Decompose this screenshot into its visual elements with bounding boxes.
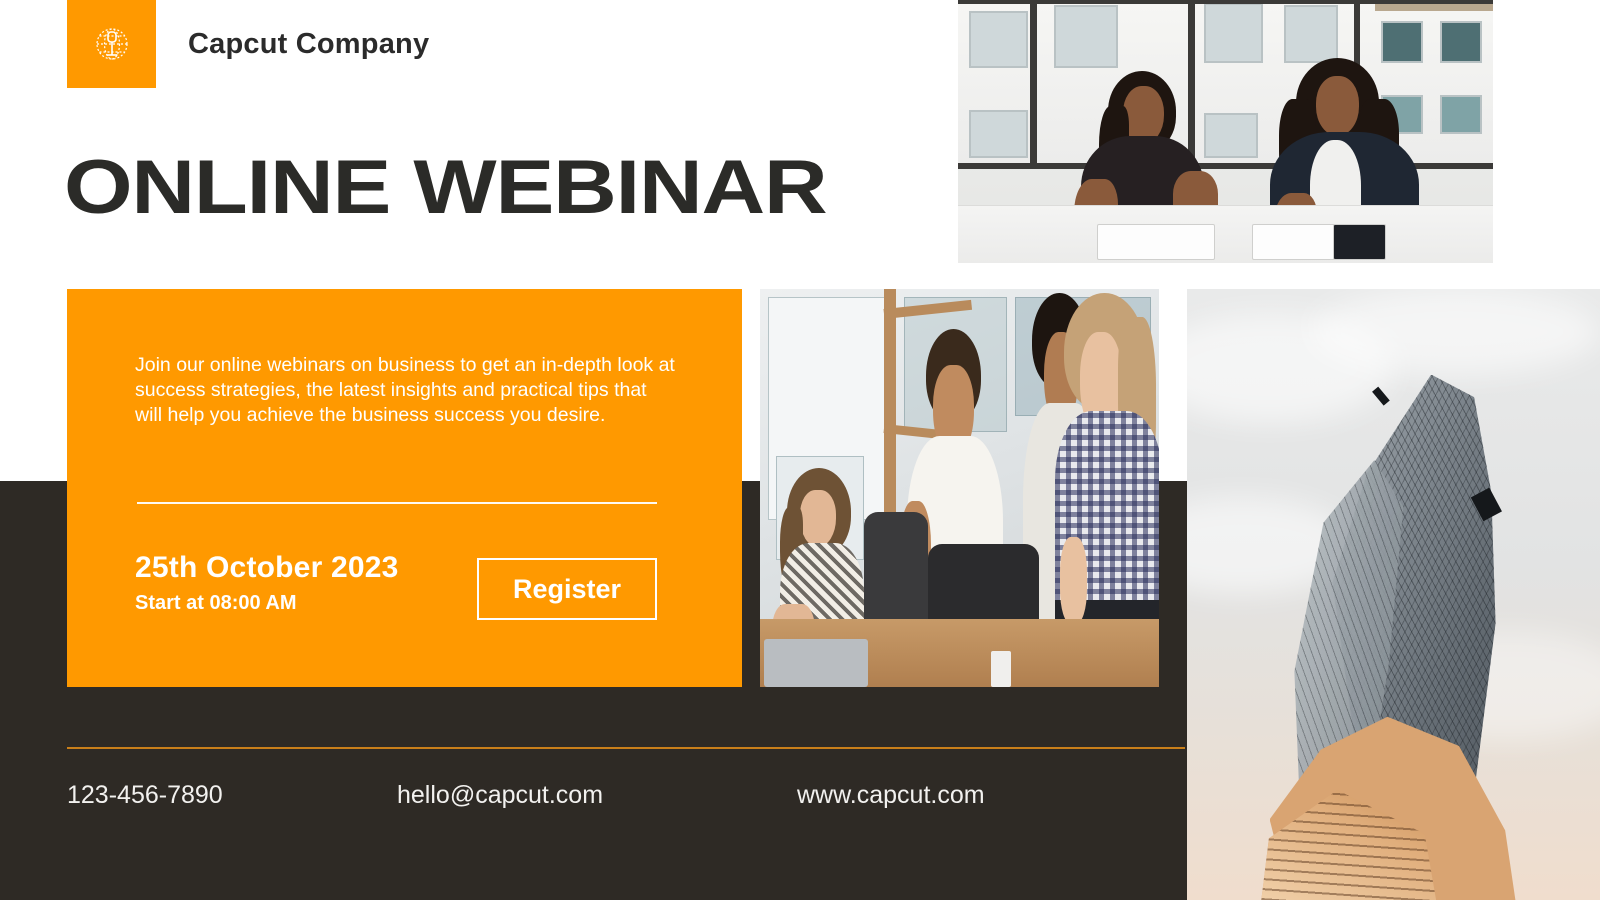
event-date: 25th October 2023 — [135, 551, 399, 585]
footer-email[interactable]: hello@capcut.com — [397, 781, 797, 810]
footer-phone[interactable]: 123-456-7890 — [67, 781, 397, 810]
brand-name: Capcut Company — [188, 28, 429, 61]
team-photo — [760, 289, 1159, 687]
logo-tile — [67, 0, 156, 88]
footer-divider — [67, 747, 1185, 749]
footer-contact-row: 123-456-7890 hello@capcut.com www.capcut… — [67, 775, 1185, 815]
event-time: Start at 08:00 AM — [135, 592, 297, 615]
tower-photo — [1187, 289, 1600, 900]
brand-header: Capcut Company — [67, 0, 429, 88]
info-card: Join our online webinars on business to … — [67, 289, 742, 687]
register-button[interactable]: Register — [477, 558, 657, 620]
info-divider — [137, 502, 657, 504]
footer-website[interactable]: www.capcut.com — [797, 781, 1177, 810]
meeting-photo — [958, 0, 1493, 263]
webinar-description: Join our online webinars on business to … — [135, 353, 675, 428]
page-title: ONLINE WEBINAR — [64, 150, 826, 226]
globe-icon — [89, 21, 135, 67]
webinar-poster: Capcut Company ONLINE WEBINAR — [0, 0, 1600, 900]
